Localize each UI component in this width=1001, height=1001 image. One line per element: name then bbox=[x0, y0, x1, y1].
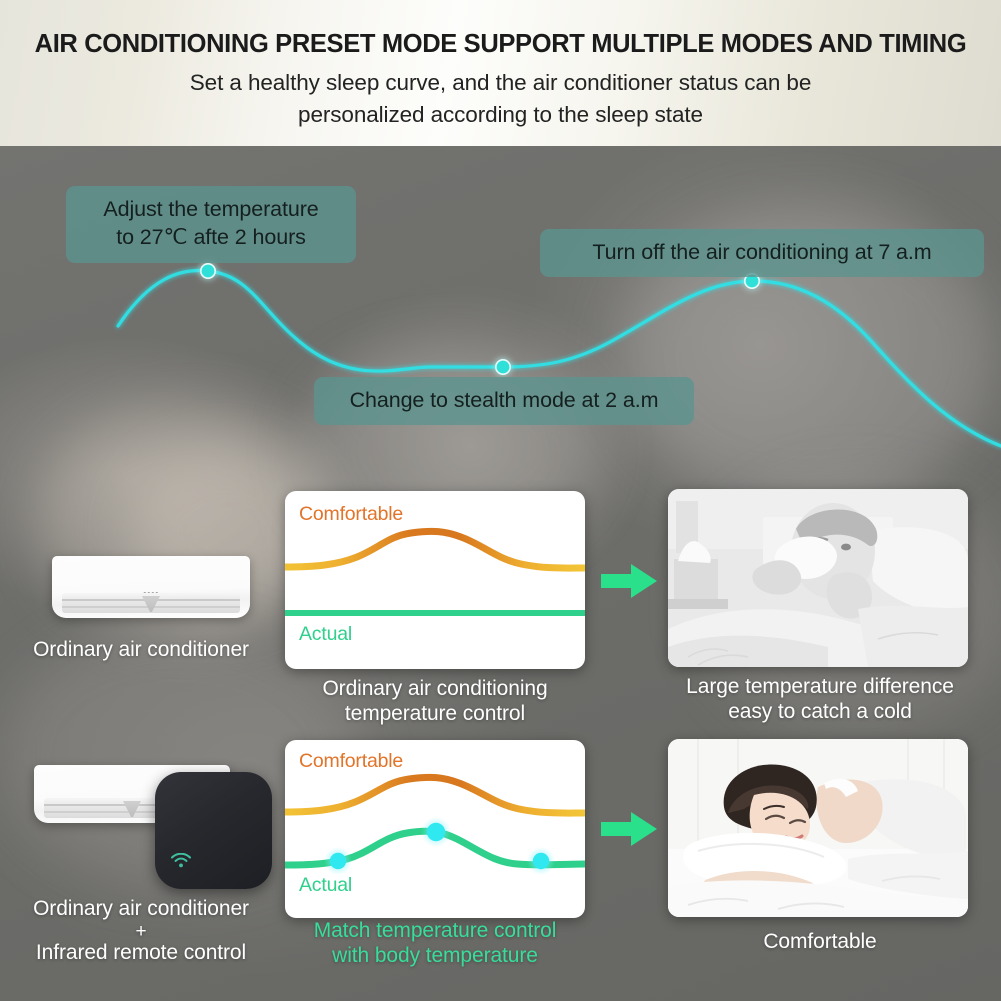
device-label-row2-line2: + bbox=[0, 922, 282, 941]
actual-marker-3[interactable] bbox=[533, 853, 549, 869]
callout-stealth-mode[interactable]: Change to stealth mode at 2 a.m bbox=[314, 377, 694, 425]
chart-caption-smart-line1: Match temperature control bbox=[280, 918, 590, 943]
callout-1-line2: to 27℃ afte 2 hours bbox=[82, 223, 340, 251]
page-title: AIR CONDITIONING PRESET MODE SUPPORT MUL… bbox=[0, 0, 1001, 58]
device-label-row1-line1: Ordinary air conditioner bbox=[0, 638, 282, 663]
chart-card-ordinary: Comfortable Actual bbox=[285, 491, 585, 669]
comfortable-curve-ordinary bbox=[285, 531, 585, 568]
air-conditioner-unit-row1: ●●●● bbox=[52, 556, 250, 618]
infrared-remote-hub-device bbox=[155, 772, 272, 889]
actual-label-smart: Actual bbox=[299, 874, 352, 897]
curve-node-2[interactable] bbox=[496, 360, 510, 374]
actual-label-ordinary: Actual bbox=[299, 623, 352, 646]
comfortable-label-smart: Comfortable bbox=[299, 750, 403, 773]
comfortable-label-ordinary: Comfortable bbox=[299, 503, 403, 526]
callout-adjust-temperature[interactable]: Adjust the temperature to 27℃ afte 2 hou… bbox=[66, 186, 356, 263]
device-label-row2-line3: Infrared remote control bbox=[0, 941, 282, 966]
ac-body-row1: ●●●● bbox=[52, 556, 250, 618]
chart-caption-ordinary-line1: Ordinary air conditioning bbox=[280, 676, 590, 701]
comfortable-curve-smart bbox=[285, 777, 585, 813]
callout-turn-off-ac[interactable]: Turn off the air conditioning at 7 a.m bbox=[540, 229, 984, 277]
result-caption-row2: Comfortable bbox=[655, 929, 985, 954]
header-banner: AIR CONDITIONING PRESET MODE SUPPORT MUL… bbox=[0, 0, 1001, 146]
result-caption-row2-line1: Comfortable bbox=[655, 929, 985, 954]
result-photo-sick-man bbox=[668, 489, 968, 667]
actual-marker-2[interactable] bbox=[427, 823, 445, 841]
page-subtitle: Set a healthy sleep curve, and the air c… bbox=[0, 58, 1001, 131]
chart-caption-smart: Match temperature control with body temp… bbox=[280, 918, 590, 968]
chart-caption-ordinary: Ordinary air conditioning temperature co… bbox=[280, 676, 590, 726]
actual-marker-1[interactable] bbox=[330, 853, 346, 869]
arrow-right-icon-row2 bbox=[601, 811, 657, 847]
callout-1-line1: Adjust the temperature bbox=[82, 195, 340, 223]
page-subtitle-line1: Set a healthy sleep curve, and the air c… bbox=[0, 67, 1001, 99]
result-caption-row1-line2: easy to catch a cold bbox=[655, 699, 985, 724]
sick-man-illustration bbox=[668, 489, 968, 667]
chart-caption-smart-line2: with body temperature bbox=[280, 943, 590, 968]
callout-2-line1: Turn off the air conditioning at 7 a.m bbox=[554, 238, 970, 266]
page-subtitle-line2: personalized according to the sleep stat… bbox=[0, 99, 1001, 131]
callout-3-line1: Change to stealth mode at 2 a.m bbox=[328, 386, 680, 414]
sleeping-woman-illustration bbox=[668, 739, 968, 917]
wifi-icon bbox=[171, 853, 191, 869]
result-caption-row1: Large temperature difference easy to cat… bbox=[655, 674, 985, 724]
result-caption-row1-line1: Large temperature difference bbox=[655, 674, 985, 699]
curve-node-1[interactable] bbox=[201, 264, 215, 278]
device-label-row2: Ordinary air conditioner + Infrared remo… bbox=[0, 897, 282, 966]
arrow-right-icon-row1 bbox=[601, 563, 657, 599]
chart-card-smart: Comfortable Actual bbox=[285, 740, 585, 918]
infographic-page: AIR CONDITIONING PRESET MODE SUPPORT MUL… bbox=[0, 0, 1001, 1001]
device-label-row1: Ordinary air conditioner bbox=[0, 638, 282, 663]
chart-caption-ordinary-line2: temperature control bbox=[280, 701, 590, 726]
result-photo-sleeping-woman bbox=[668, 739, 968, 917]
device-label-row2-line1: Ordinary air conditioner bbox=[0, 897, 282, 922]
